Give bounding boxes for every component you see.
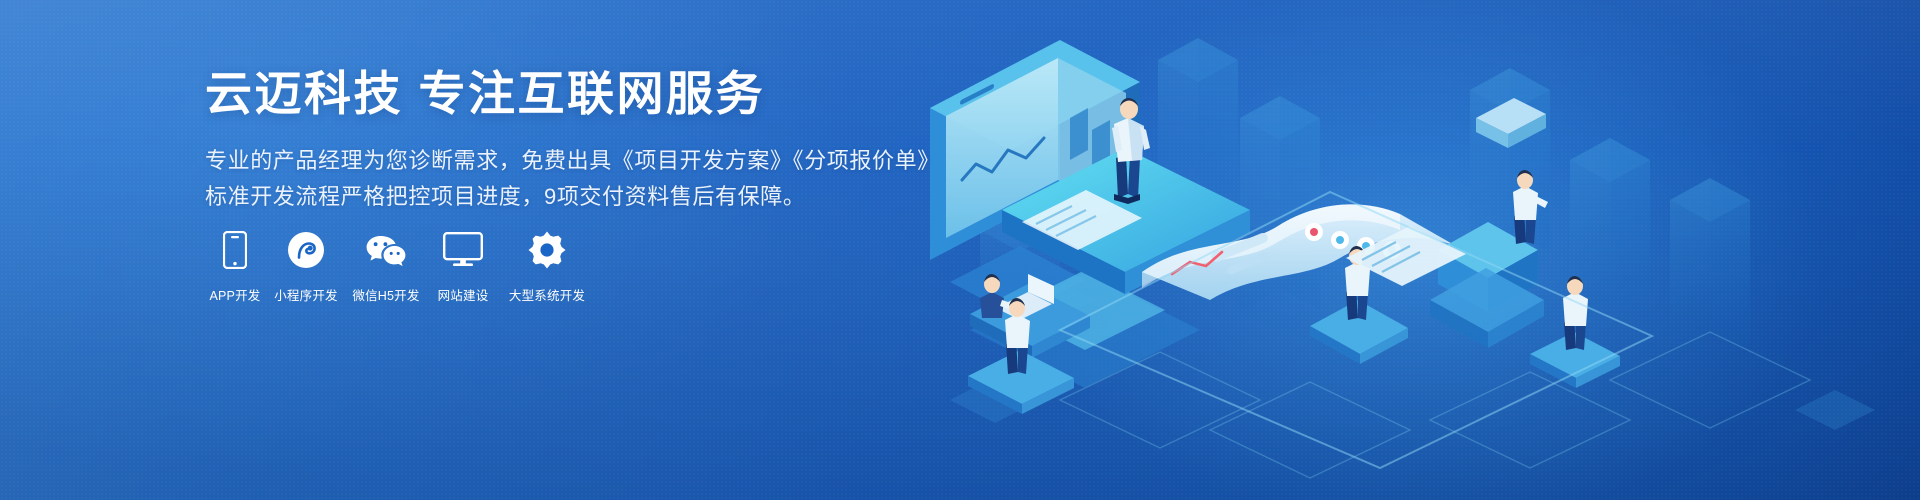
service-label: APP开发 bbox=[209, 285, 260, 304]
wechat-icon bbox=[365, 228, 407, 272]
service-item-website[interactable]: 网站建设 bbox=[427, 228, 499, 304]
hero-banner: 云迈科技 专注互联网服务 专业的产品经理为您诊断需求，免费出具《项目开发方案》《… bbox=[0, 0, 1920, 500]
mobile-phone-icon bbox=[223, 228, 247, 272]
isometric-illustration bbox=[910, 0, 1920, 500]
page-title: 云迈科技 专注互联网服务 bbox=[205, 66, 925, 121]
service-item-large-system[interactable]: 大型系统开发 bbox=[499, 228, 595, 304]
mini-program-icon bbox=[287, 228, 325, 272]
service-item-app[interactable]: APP开发 bbox=[203, 228, 267, 304]
service-label: 大型系统开发 bbox=[509, 285, 585, 304]
service-label: 微信H5开发 bbox=[352, 285, 419, 304]
banner-subtitle: 专业的产品经理为您诊断需求，免费出具《项目开发方案》《分项报价单》 标准开发流程… bbox=[205, 143, 925, 214]
monitor-icon bbox=[443, 228, 483, 272]
subtitle-line-2: 标准开发流程严格把控项目进度，9项交付资料售后有保障。 bbox=[205, 179, 925, 215]
service-label: 网站建设 bbox=[438, 285, 489, 304]
gear-icon bbox=[528, 228, 566, 272]
service-item-miniprogram[interactable]: 小程序开发 bbox=[267, 228, 345, 304]
service-list: APP开发 小程序开发 bbox=[203, 228, 595, 304]
subtitle-line-1: 专业的产品经理为您诊断需求，免费出具《项目开发方案》《分项报价单》 bbox=[205, 143, 925, 179]
banner-content: 云迈科技 专注互联网服务 专业的产品经理为您诊断需求，免费出具《项目开发方案》《… bbox=[205, 66, 925, 215]
service-label: 小程序开发 bbox=[274, 285, 338, 304]
service-item-wechat-h5[interactable]: 微信H5开发 bbox=[345, 228, 427, 304]
